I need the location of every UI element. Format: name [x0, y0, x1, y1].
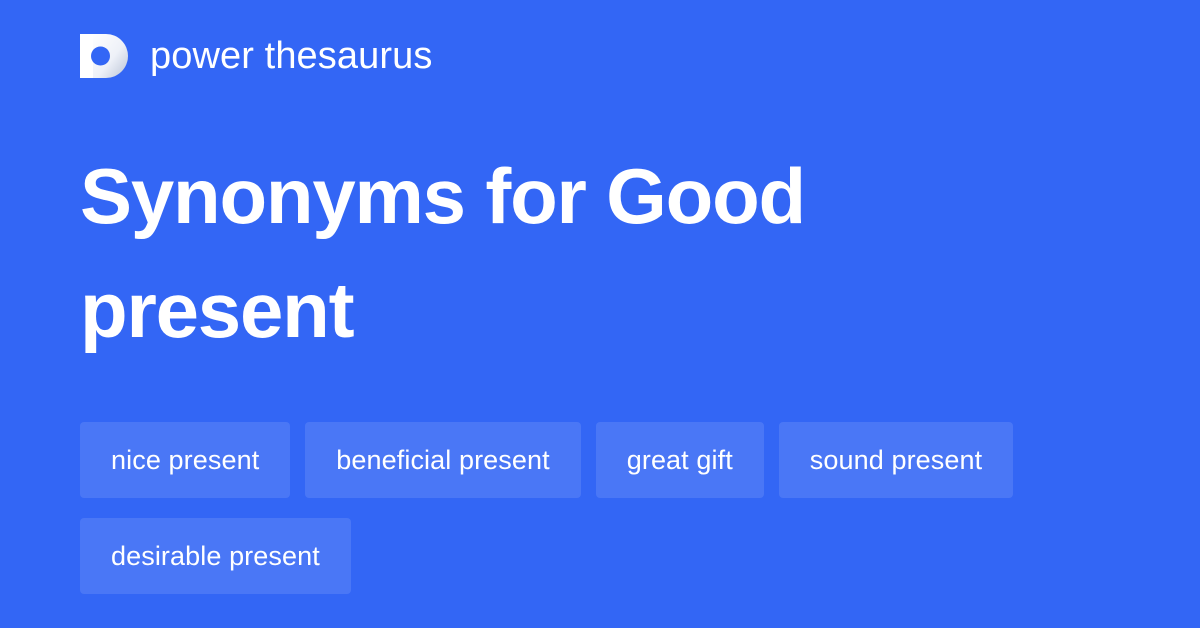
page-title-line-1: Synonyms for Good [80, 139, 1080, 253]
synonym-chip[interactable]: great gift [596, 422, 764, 498]
page-title-line-2: present [80, 253, 1080, 367]
synonym-share-card: power thesaurus Synonyms for Good presen… [0, 0, 1200, 628]
synonym-chip[interactable]: sound present [779, 422, 1013, 498]
page-title: Synonyms for Good present [80, 139, 1080, 367]
brand-name: power thesaurus [150, 34, 432, 78]
synonym-chip[interactable]: desirable present [80, 518, 351, 594]
synonym-chip-list: nice present beneficial present great gi… [80, 422, 1120, 594]
brand-header[interactable]: power thesaurus [80, 28, 432, 84]
synonym-chip[interactable]: beneficial present [305, 422, 580, 498]
synonym-chip[interactable]: nice present [80, 422, 290, 498]
power-thesaurus-b-logo-icon [80, 32, 128, 80]
